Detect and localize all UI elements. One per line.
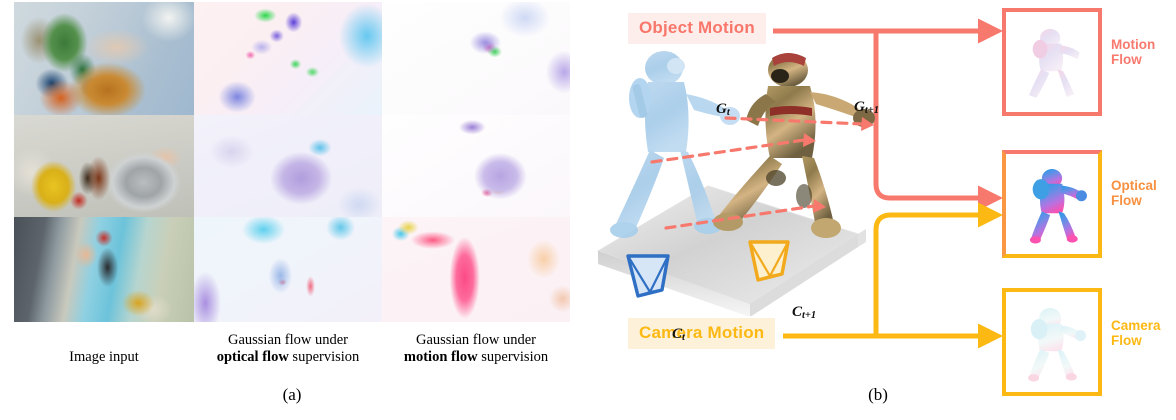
- grid-cell-row2-image-input: [14, 115, 194, 217]
- optical-flow-box[interactable]: [1002, 150, 1102, 258]
- camera-next-label: Ct+1: [792, 304, 816, 321]
- flowmap-row1-optical: [194, 2, 382, 115]
- panel-a-sublabel: (a): [14, 385, 570, 405]
- camera-motion-tag[interactable]: Camera Motion: [628, 318, 775, 349]
- panel-a-captions: Image input Gaussian flow under optical …: [14, 332, 570, 366]
- flowmap-row1-motion: [382, 2, 570, 115]
- grid-cell-row2-optical-flow: [194, 115, 382, 217]
- grid-cell-row3-image-input: [14, 217, 194, 322]
- photo-kitchen-scene: [14, 115, 194, 217]
- photo-bag-scene: [14, 217, 194, 322]
- photo-plant-scene: [14, 2, 194, 115]
- grid-cell-row3-motion-flow: [382, 217, 570, 322]
- camera-prev-label: Ct: [672, 326, 685, 343]
- caption-image-input: Image input: [14, 332, 194, 366]
- grid-cell-row2-motion-flow: [382, 115, 570, 217]
- optical-flow-silhouette: [1006, 154, 1098, 254]
- gaussian-prev-label: Gt: [716, 101, 730, 118]
- flowmap-row3-motion: [382, 217, 570, 322]
- panel-b-method-diagram: Object Motion Camera Motion: [580, 0, 1176, 420]
- camera-flow-label: Camera Flow: [1111, 318, 1161, 348]
- motion-flow-silhouette: [1006, 12, 1098, 112]
- panel-b-sublabel: (b): [580, 385, 1176, 405]
- grid-cell-row1-optical-flow: [194, 2, 382, 115]
- three-d-scene: Gt Gt+1 Ct Ct+1: [590, 46, 890, 316]
- motion-flow-label: Motion Flow: [1111, 37, 1155, 67]
- camera-flow-box[interactable]: [1002, 288, 1102, 396]
- caption-gaussian-flow-motion: Gaussian flow under motion flow supervis…: [382, 332, 570, 366]
- camera-frustum-next: [750, 242, 788, 280]
- grid-cell-row3-optical-flow: [194, 217, 382, 322]
- optical-flow-label: Optical Flow: [1111, 178, 1157, 208]
- flowmap-row2-motion: [382, 115, 570, 217]
- flowmap-row2-optical: [194, 115, 382, 217]
- panel-a-qualitative-comparison: Image input Gaussian flow under optical …: [0, 0, 580, 420]
- gaussian-next-label: Gt+1: [854, 99, 879, 116]
- image-grid: [14, 2, 570, 322]
- caption-gaussian-flow-optical: Gaussian flow under optical flow supervi…: [194, 332, 382, 366]
- flowmap-row3-optical: [194, 217, 382, 322]
- scene-svg: [590, 46, 890, 316]
- grid-cell-row1-motion-flow: [382, 2, 570, 115]
- camera-frustum-prev: [628, 256, 668, 296]
- object-motion-tag[interactable]: Object Motion: [628, 13, 766, 44]
- camera-flow-silhouette: [1006, 292, 1098, 392]
- grid-cell-row1-image-input: [14, 2, 194, 115]
- motion-flow-box[interactable]: [1002, 8, 1102, 116]
